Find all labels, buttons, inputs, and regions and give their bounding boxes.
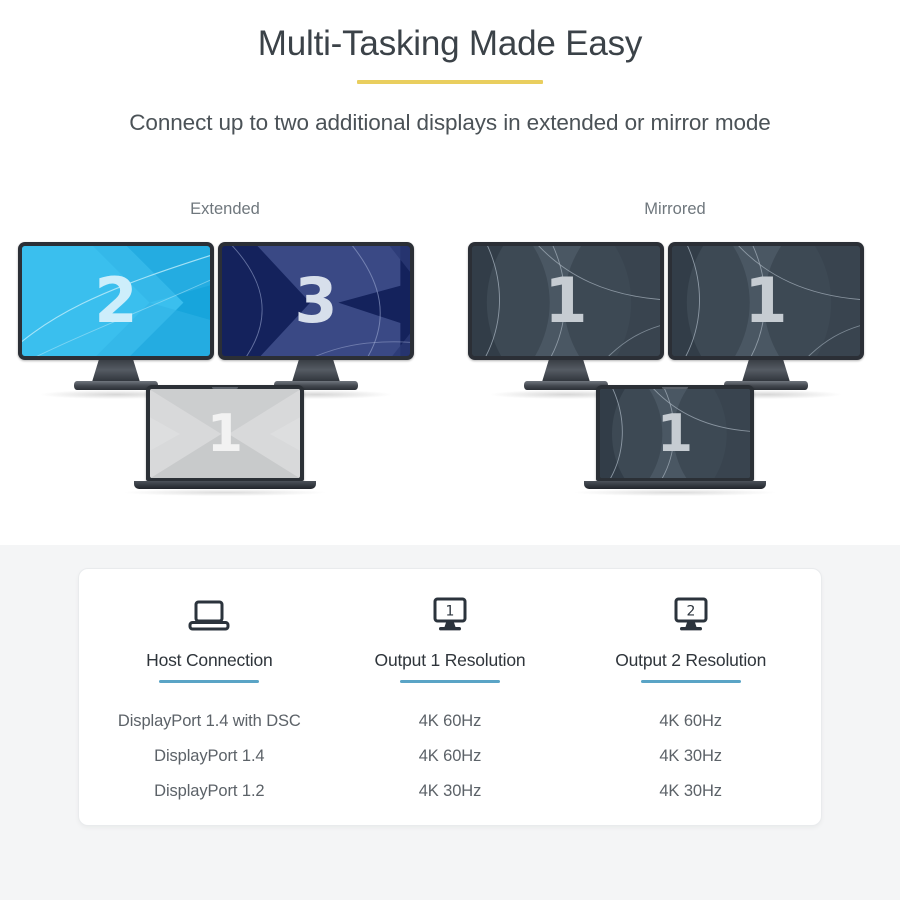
laptop-lid: 1: [146, 385, 304, 481]
wallpaper: 1: [472, 246, 660, 356]
column-underline: [400, 680, 500, 683]
wallpaper: 3: [222, 246, 410, 356]
column-title: Output 2 Resolution: [570, 650, 811, 671]
monitor-extended-3: 3: [218, 242, 414, 360]
page-title: Multi-Tasking Made Easy: [0, 22, 900, 66]
cell-host-connection: DisplayPort 1.4: [89, 747, 330, 766]
column-title: Output 1 Resolution: [330, 650, 571, 671]
table-column-output-2: 2 Output 2 Resolution: [570, 593, 811, 683]
cell-output-2: 4K 30Hz: [570, 747, 811, 766]
laptop-extended: 1: [146, 385, 304, 481]
monitor-extended-2: 2: [18, 242, 214, 360]
header: Multi-Tasking Made Easy Connect up to tw…: [0, 0, 900, 136]
wallpaper: 2: [22, 246, 210, 356]
monitor-mirrored-right: 1: [668, 242, 864, 360]
resolution-table-card: Host Connection 1 Output 1 Resolution: [78, 568, 822, 826]
screen-digit: 1: [472, 270, 660, 332]
monitor-bezel: 2: [18, 242, 214, 360]
table-body: DisplayPort 1.4 with DSC 4K 60Hz 4K 60Hz…: [89, 704, 811, 809]
page-subtitle: Connect up to two additional displays in…: [0, 110, 900, 136]
cell-output-2: 4K 30Hz: [570, 782, 811, 801]
cell-host-connection: DisplayPort 1.2: [89, 782, 330, 801]
screen-digit: 1: [672, 270, 860, 332]
screen-digit: 3: [222, 270, 410, 332]
monitor-bezel: 1: [668, 242, 864, 360]
monitor-stand-neck: [292, 360, 340, 382]
laptop-lid: 1: [596, 385, 754, 481]
monitor-bezel: 1: [468, 242, 664, 360]
table-row: DisplayPort 1.2 4K 30Hz 4K 30Hz: [89, 774, 811, 809]
laptop-base: [134, 481, 316, 489]
cell-output-2: 4K 60Hz: [570, 712, 811, 731]
monitor-stand-neck: [92, 360, 140, 382]
mirrored-label: Mirrored: [450, 200, 900, 219]
monitor-icon: 2: [570, 593, 811, 639]
laptop-screen: 1: [600, 389, 750, 478]
laptop-shadow: [125, 489, 325, 496]
monitor-screen: 1: [472, 246, 660, 356]
extended-label: Extended: [0, 200, 450, 219]
laptop-screen: 1: [150, 389, 300, 478]
table-column-host-connection: Host Connection: [89, 593, 330, 683]
monitor-badge-number: 2: [686, 604, 695, 620]
display-mode-illustration: Extended 2: [0, 190, 900, 510]
monitor-screen: 2: [22, 246, 210, 356]
title-underline: [357, 80, 543, 84]
laptop-icon: [89, 593, 330, 639]
monitor-stand-neck: [542, 360, 590, 382]
column-underline: [159, 680, 259, 683]
table-column-output-1: 1 Output 1 Resolution: [330, 593, 571, 683]
wallpaper: 1: [600, 389, 750, 478]
cell-output-1: 4K 60Hz: [330, 712, 571, 731]
table-header-row: Host Connection 1 Output 1 Resolution: [89, 593, 811, 683]
monitor-icon: 1: [330, 593, 571, 639]
extended-group: Extended 2: [0, 190, 450, 510]
table-row: DisplayPort 1.4 with DSC 4K 60Hz 4K 60Hz: [89, 704, 811, 739]
mirrored-group: Mirrored: [450, 190, 900, 510]
monitor-badge-number: 1: [446, 604, 455, 620]
cell-host-connection: DisplayPort 1.4 with DSC: [89, 712, 330, 731]
column-underline: [641, 680, 741, 683]
table-row: DisplayPort 1.4 4K 60Hz 4K 30Hz: [89, 739, 811, 774]
monitor-bezel: 3: [218, 242, 414, 360]
column-title: Host Connection: [89, 650, 330, 671]
wallpaper: 1: [150, 389, 300, 478]
screen-digit: 2: [22, 270, 210, 332]
cell-output-1: 4K 60Hz: [330, 747, 571, 766]
screen-digit: 1: [600, 408, 750, 460]
monitor-stand-neck: [742, 360, 790, 382]
monitor-mirrored-left: 1: [468, 242, 664, 360]
wallpaper: 1: [672, 246, 860, 356]
laptop-mirrored: 1: [596, 385, 754, 481]
cell-output-1: 4K 30Hz: [330, 782, 571, 801]
product-infographic: Multi-Tasking Made Easy Connect up to tw…: [0, 0, 900, 900]
laptop-shadow: [575, 489, 775, 496]
monitor-screen: 3: [222, 246, 410, 356]
laptop-base: [584, 481, 766, 489]
screen-digit: 1: [150, 408, 300, 460]
monitor-screen: 1: [672, 246, 860, 356]
